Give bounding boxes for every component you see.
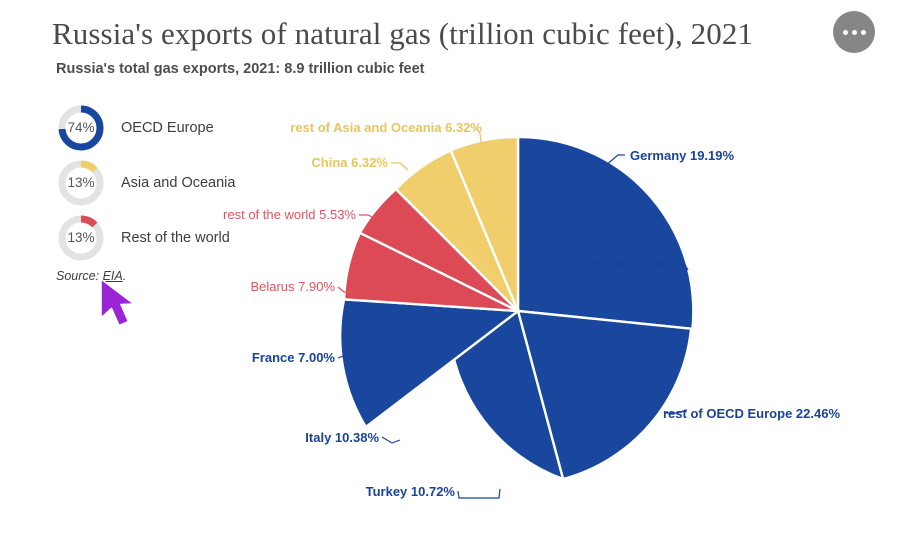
pie-label-turkey: Turkey 10.72% xyxy=(366,484,456,499)
pie-slices xyxy=(340,137,693,479)
pie-chart: Germany 19.19% Poland 4.18% rest of OECD… xyxy=(210,95,897,539)
pie-label-italy: Italy 10.38% xyxy=(305,430,379,445)
pie-label-rest-of-oecd-europe: rest of OECD Europe 22.46% xyxy=(663,406,840,421)
leader-line-china xyxy=(391,163,408,170)
legend-percent-asia-and-oceania: 13% xyxy=(56,158,106,208)
pie-label-rest-of-asia-and-oceania: rest of Asia and Oceania 6.32% xyxy=(290,120,482,135)
pie-label-rest-of-the-world: rest of the world 5.53% xyxy=(223,207,356,222)
source-link-eia[interactable]: EIA xyxy=(103,269,123,283)
pie-label-belarus: Belarus 7.90% xyxy=(250,279,335,294)
pie-label-poland: Poland 4.18% xyxy=(592,256,676,271)
source-suffix: . xyxy=(123,269,126,283)
leader-line-italy xyxy=(382,437,400,443)
source-note: Source: EIA. xyxy=(56,269,126,283)
legend-percent-oecd-europe: 74% xyxy=(56,103,106,153)
ellipsis-dots xyxy=(843,30,866,35)
pie-label-china: China 6.32% xyxy=(311,155,388,170)
cursor-arrow-shape xyxy=(101,279,134,326)
legend-donut-asia-and-oceania: 13% xyxy=(56,158,106,208)
pie-label-france: France 7.00% xyxy=(252,350,336,365)
mouse-pointer xyxy=(98,277,148,339)
legend-donut-oecd-europe: 74% xyxy=(56,103,106,153)
more-options-icon[interactable] xyxy=(833,11,875,53)
pie-label-germany: Germany 19.19% xyxy=(630,148,735,163)
source-prefix: Source: xyxy=(56,269,103,283)
page-title: Russia's exports of natural gas (trillio… xyxy=(52,16,753,52)
chart-page: Russia's exports of natural gas (trillio… xyxy=(0,0,897,539)
legend-donut-rest-of-the-world: 13% xyxy=(56,213,106,263)
leader-line-turkey xyxy=(458,489,500,498)
chart-subtitle: Russia's total gas exports, 2021: 8.9 tr… xyxy=(56,61,425,77)
legend-label-oecd-europe: OECD Europe xyxy=(121,120,214,136)
legend-percent-rest-of-the-world: 13% xyxy=(56,213,106,263)
